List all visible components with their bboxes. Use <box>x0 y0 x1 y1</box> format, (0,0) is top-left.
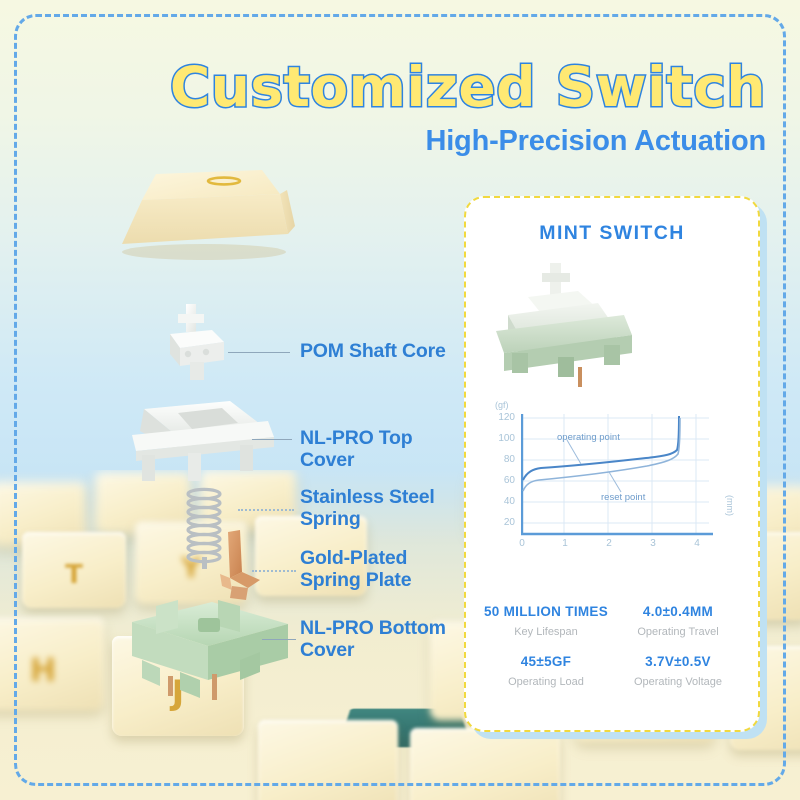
leader-line-spring-plate <box>252 570 296 572</box>
spec-operating-voltage: 3.7V±0.5V Operating Voltage <box>612 654 744 688</box>
header: Customized Switch High-Precision Actuati… <box>0 60 766 158</box>
chart-annotation-reset-point: reset point <box>601 492 645 503</box>
chart-ytick: 60 <box>493 475 515 486</box>
infographic-canvas: T Y H J I O Customized Switch High-Preci… <box>0 0 800 800</box>
chart-xtick: 3 <box>645 538 661 549</box>
specs-grid: 50 MILLION TIMES Key Lifespan 4.0±0.4MM … <box>480 604 744 688</box>
nl-pro-bottom-cover-illustration <box>120 588 296 700</box>
chart-xtick: 0 <box>514 538 530 549</box>
label-stainless-steel-spring: Stainless Steel Spring <box>300 487 435 531</box>
spec-operating-travel: 4.0±0.4MM Operating Travel <box>612 604 744 638</box>
leader-line-bottom-cover <box>262 639 296 640</box>
spec-operating-load: 45±5GF Operating Load <box>480 654 612 688</box>
label-pom-shaft-core: POM Shaft Core <box>300 341 446 363</box>
spec-value: 3.7V±0.5V <box>612 654 744 669</box>
spec-label: Operating Travel <box>612 626 744 638</box>
page-title: Customized Switch <box>0 60 766 115</box>
chart-ytick: 100 <box>493 433 515 444</box>
force-travel-chart: (gf) (mm) 120 100 80 60 40 20 <box>493 400 731 582</box>
spec-value: 4.0±0.4MM <box>612 604 744 619</box>
chart-ytick: 40 <box>493 496 515 507</box>
page-subtitle: High-Precision Actuation <box>0 125 766 158</box>
chart-xlabel: (mm) <box>725 495 735 516</box>
leader-line-pom-shaft-core <box>228 352 290 353</box>
keycap-hero-illustration <box>112 160 297 268</box>
label-nl-pro-top-cover: NL-PRO Top Cover <box>300 428 470 472</box>
card-title: MINT SWITCH <box>466 222 758 245</box>
chart-xtick: 1 <box>557 538 573 549</box>
chart-ytick: 120 <box>493 412 515 423</box>
spec-key-lifespan: 50 MILLION TIMES Key Lifespan <box>480 604 612 638</box>
spec-value: 50 MILLION TIMES <box>480 604 612 619</box>
mint-switch-card: MINT SWITCH <box>464 196 760 732</box>
label-nl-pro-bottom-cover: NL-PRO Bottom Cover <box>300 618 446 662</box>
label-gold-plated-spring-plate: Gold-Plated Spring Plate <box>300 548 411 592</box>
mint-switch-photo <box>466 257 656 387</box>
chart-annotation-operating-point: operating point <box>557 432 620 443</box>
spec-label: Operating Load <box>480 676 612 688</box>
leader-line-spring <box>238 509 294 511</box>
spec-label: Operating Voltage <box>612 676 744 688</box>
leader-line-top-cover <box>252 439 292 440</box>
chart-xtick: 2 <box>601 538 617 549</box>
chart-ylabel: (gf) <box>495 400 509 410</box>
pom-shaft-core-illustration <box>150 300 242 390</box>
chart-xtick: 4 <box>689 538 705 549</box>
chart-ytick: 20 <box>493 517 515 528</box>
spec-value: 45±5GF <box>480 654 612 669</box>
chart-ytick: 80 <box>493 454 515 465</box>
spec-label: Key Lifespan <box>480 626 612 638</box>
